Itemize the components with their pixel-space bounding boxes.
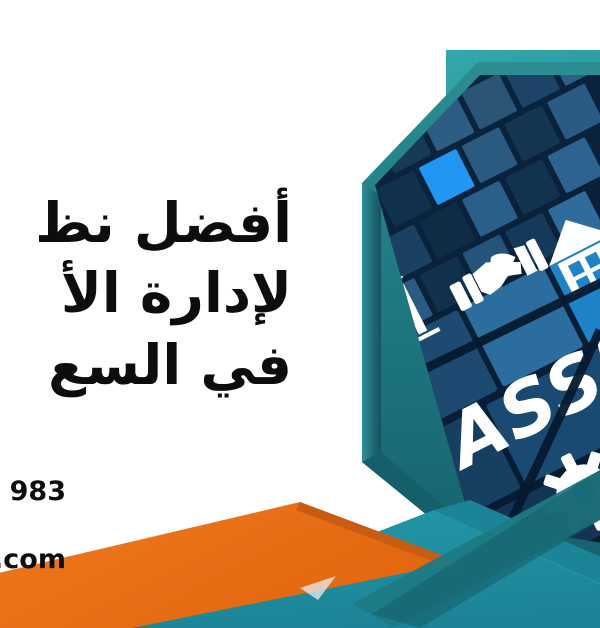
contact-phone: 983 bbox=[0, 476, 66, 508]
banner-canvas: ASSE bbox=[0, 0, 600, 628]
headline-line-2: لإدارة الأ bbox=[0, 258, 292, 328]
contact-website[interactable]: .com bbox=[0, 544, 66, 576]
headline-line-1: أفضل نظ bbox=[0, 188, 292, 258]
headline-line-3: في السع bbox=[0, 330, 292, 400]
